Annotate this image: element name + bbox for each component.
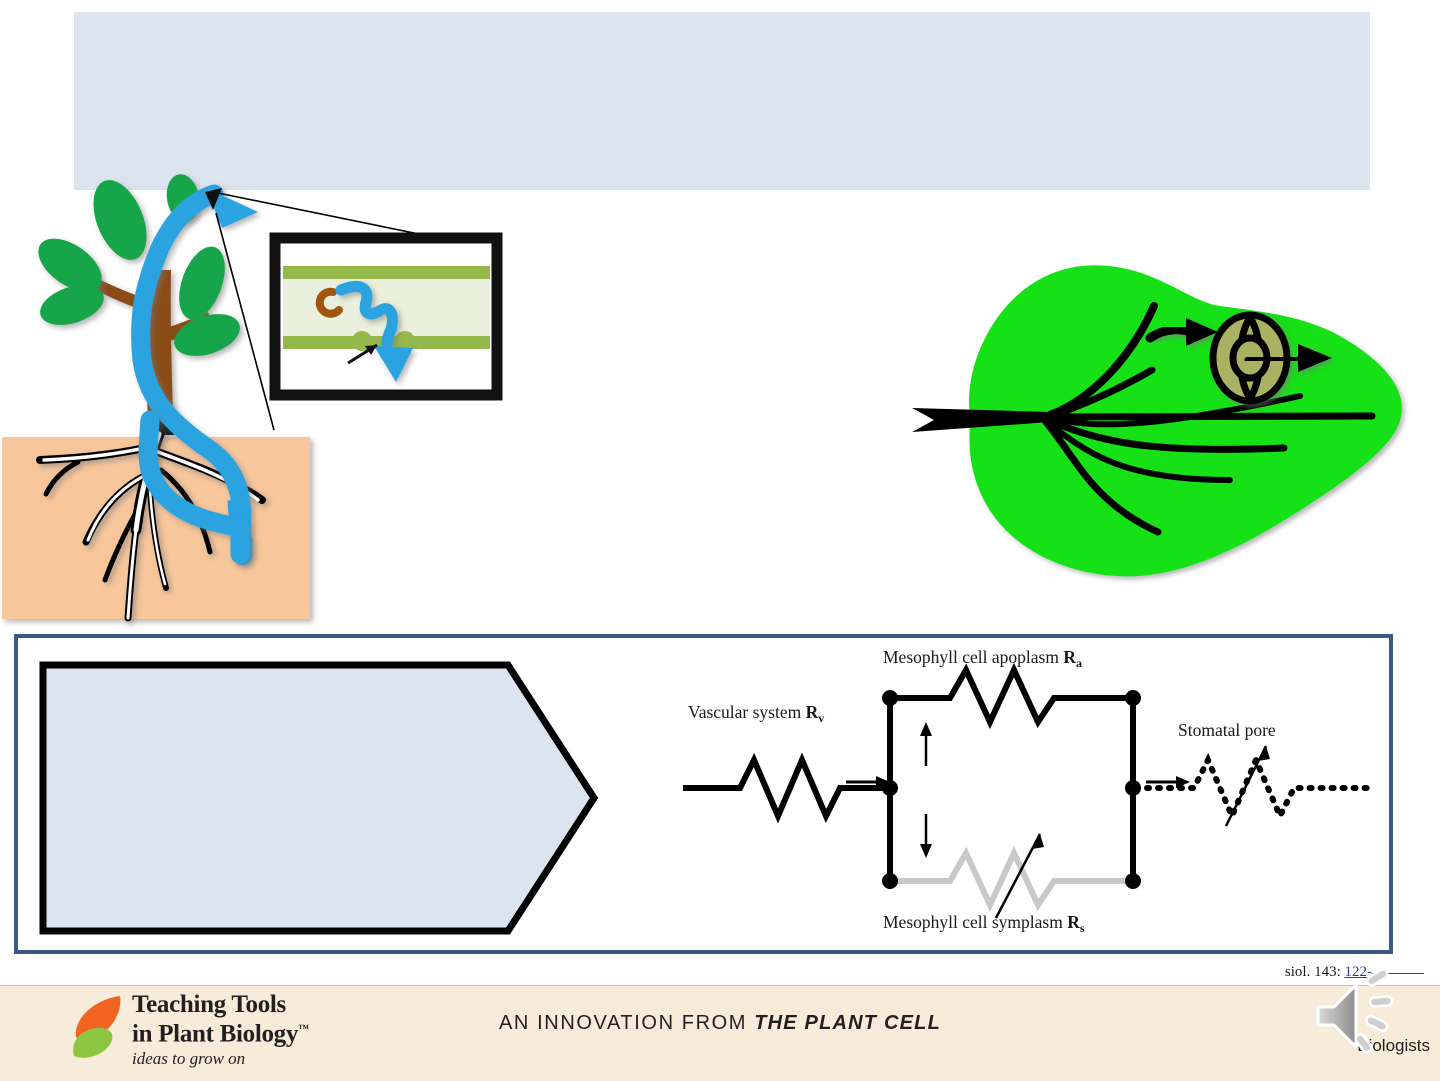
footer-center-plain: AN INNOVATION FROM [499, 1012, 754, 1034]
apoplast-resistor [890, 670, 1133, 722]
footer-innovation-line: AN INNOVATION FROM THE PLANT CELL [0, 1012, 1440, 1035]
stomatal-variable-arrow [1226, 746, 1270, 826]
label-symplasm: Mesophyll cell symplasm Rs [883, 912, 1085, 935]
stomatal-pore-resistor [1136, 760, 1368, 816]
sound-waves [1354, 968, 1392, 1054]
footer-bar: Teaching Tools in Plant Biology™ ideas t… [0, 985, 1440, 1081]
cell-wall-top [283, 266, 490, 279]
bottom-content-panel: Vascular system Rv Mesophyll cell apopla… [14, 634, 1393, 954]
flow-arrow-down [920, 814, 932, 858]
flow-arrow-up [920, 722, 932, 766]
title-text [74, 12, 1370, 40]
speaker-icon[interactable] [1304, 961, 1414, 1071]
vascular-resistor [683, 760, 883, 816]
resistance-circuit-figure: Vascular system Rv Mesophyll cell apopla… [678, 638, 1378, 958]
pentagon-callout [38, 660, 608, 936]
footer-center-emphasis: THE PLANT CELL [754, 1012, 941, 1034]
symplast-resistor [890, 853, 1133, 905]
slide-canvas: Vascular system Rv Mesophyll cell apopla… [0, 0, 1440, 1080]
plant-water-transport-figure [0, 170, 520, 630]
label-stomatal-pore: Stomatal pore [1178, 720, 1276, 740]
teaching-tools-logo: Teaching Tools in Plant Biology™ ideas t… [68, 989, 358, 1081]
label-vascular-system: Vascular system Rv [688, 702, 824, 725]
pentagon-shape [43, 665, 594, 931]
leaf-stomate-figure [900, 250, 1420, 590]
logo-tagline: ideas to grow on [132, 1049, 245, 1069]
label-apoplasm: Mesophyll cell apoplasm Ra [883, 647, 1082, 670]
speaker-body [1318, 985, 1356, 1047]
cell-wall-inset [275, 238, 497, 395]
title-banner [74, 12, 1370, 190]
